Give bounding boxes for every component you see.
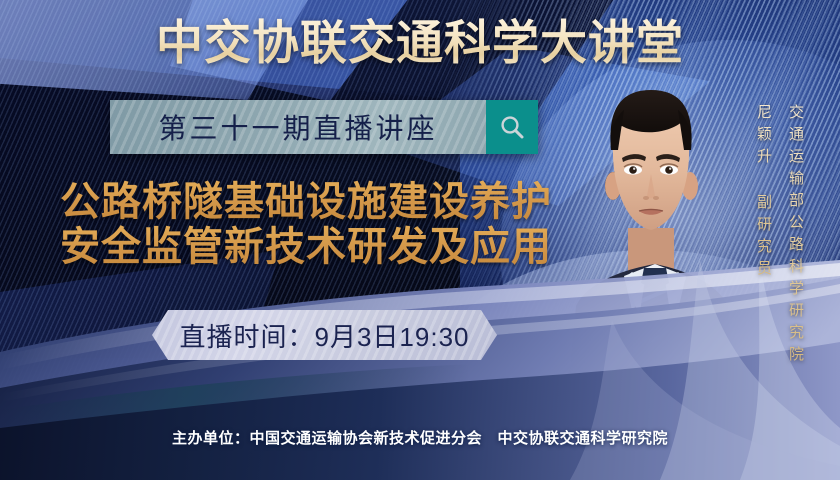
- search-icon: [498, 113, 526, 141]
- speaker-organization: 交通运输部公路科学研究院: [785, 104, 806, 368]
- lecture-topic: 公路桥隧基础设施建设养护 安全监管新技术研发及应用: [26, 180, 586, 270]
- episode-banner: 第三十一期直播讲座: [110, 100, 538, 154]
- page-title: 中交协联交通科学大讲堂: [0, 16, 840, 70]
- live-broadcast-poster: 中交协联交通科学大讲堂 第三十一期直播讲座 公路桥隧基础设施建设养护 安全监管新…: [0, 0, 840, 480]
- episode-banner-body: 第三十一期直播讲座: [110, 100, 486, 154]
- organizer-footer: 主办单位：中国交通运输协会新技术促进分会 中交协联交通科学研究院: [0, 427, 840, 448]
- speaker-name-title: 尼颖升 副研究员: [753, 104, 774, 282]
- broadcast-time-badge: 直播时间：9月3日19:30: [152, 310, 497, 360]
- lecture-topic-line-1: 公路桥隧基础设施建设养护: [26, 180, 586, 225]
- broadcast-time-label: 直播时间：9月3日19:30: [180, 317, 470, 354]
- episode-label: 第三十一期直播讲座: [158, 107, 437, 147]
- search-button[interactable]: [486, 100, 538, 154]
- lecture-topic-line-2: 安全监管新技术研发及应用: [26, 225, 586, 270]
